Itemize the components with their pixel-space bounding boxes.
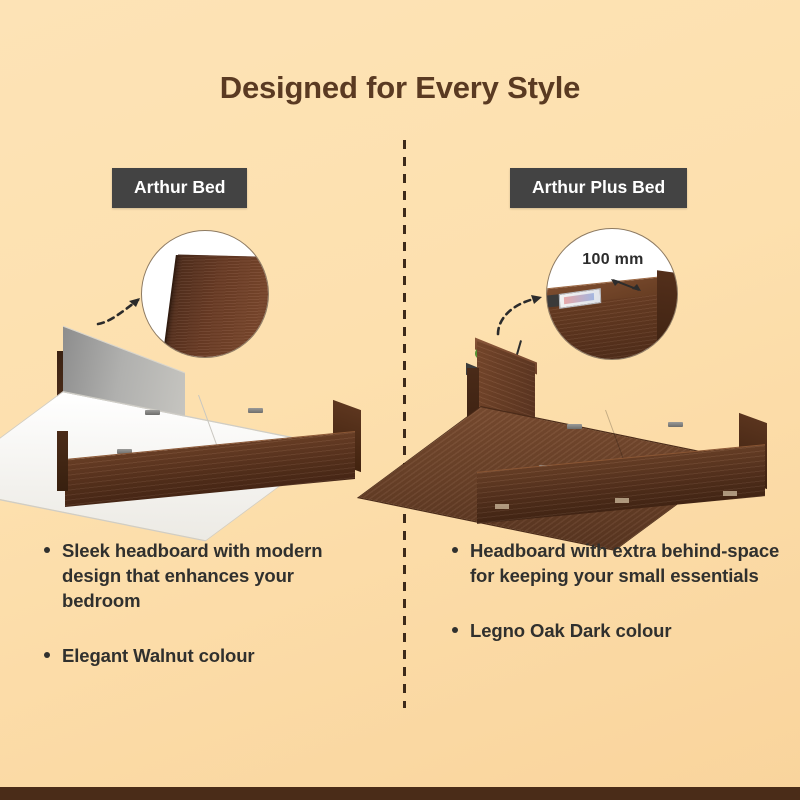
- arthur-plus-bed-illustration: [455, 338, 775, 496]
- badge-arthur-bed: Arthur Bed: [112, 168, 247, 208]
- bed-left-rail: [57, 431, 68, 491]
- measurement-label: 100 mm: [547, 251, 678, 269]
- column-arthur-bed: Arthur Bed Sleek headboard with modern d…: [0, 0, 403, 800]
- feature-list-left: Sleek headboard with modern design that …: [44, 538, 374, 699]
- feature-list-right: Headboard with extra behind-space for ke…: [452, 538, 782, 673]
- bullet-dot-icon: [44, 547, 50, 553]
- callout-arrow-left-icon: [96, 288, 150, 332]
- bottom-accent-bar: [0, 787, 800, 800]
- list-item: Sleek headboard with modern design that …: [44, 538, 374, 613]
- bullet-dot-icon: [452, 627, 458, 633]
- deck-handle: [248, 408, 263, 413]
- list-item: Headboard with extra behind-space for ke…: [452, 538, 782, 588]
- list-item: Elegant Walnut colour: [44, 643, 374, 668]
- column-arthur-plus-bed: Arthur Plus Bed 100 mm: [403, 0, 800, 800]
- bullet-dot-icon: [44, 652, 50, 658]
- bed-foot: [615, 498, 629, 503]
- headboard-panel-shape: [162, 254, 269, 358]
- bullet-dot-icon: [452, 547, 458, 553]
- bed-foot: [723, 491, 737, 496]
- callout-arrow-right-icon: [492, 286, 552, 338]
- deck-handle: [145, 410, 160, 415]
- badge-arthur-plus-bed: Arthur Plus Bed: [510, 168, 687, 208]
- deck-handle: [668, 422, 683, 427]
- deck-handle: [567, 424, 582, 429]
- measurement-arrow-icon: [609, 277, 643, 293]
- bed-foot: [495, 504, 509, 509]
- list-item: Legno Oak Dark colour: [452, 618, 782, 643]
- zoom-callout-left: [141, 230, 269, 358]
- arthur-bed-illustration: [45, 345, 375, 495]
